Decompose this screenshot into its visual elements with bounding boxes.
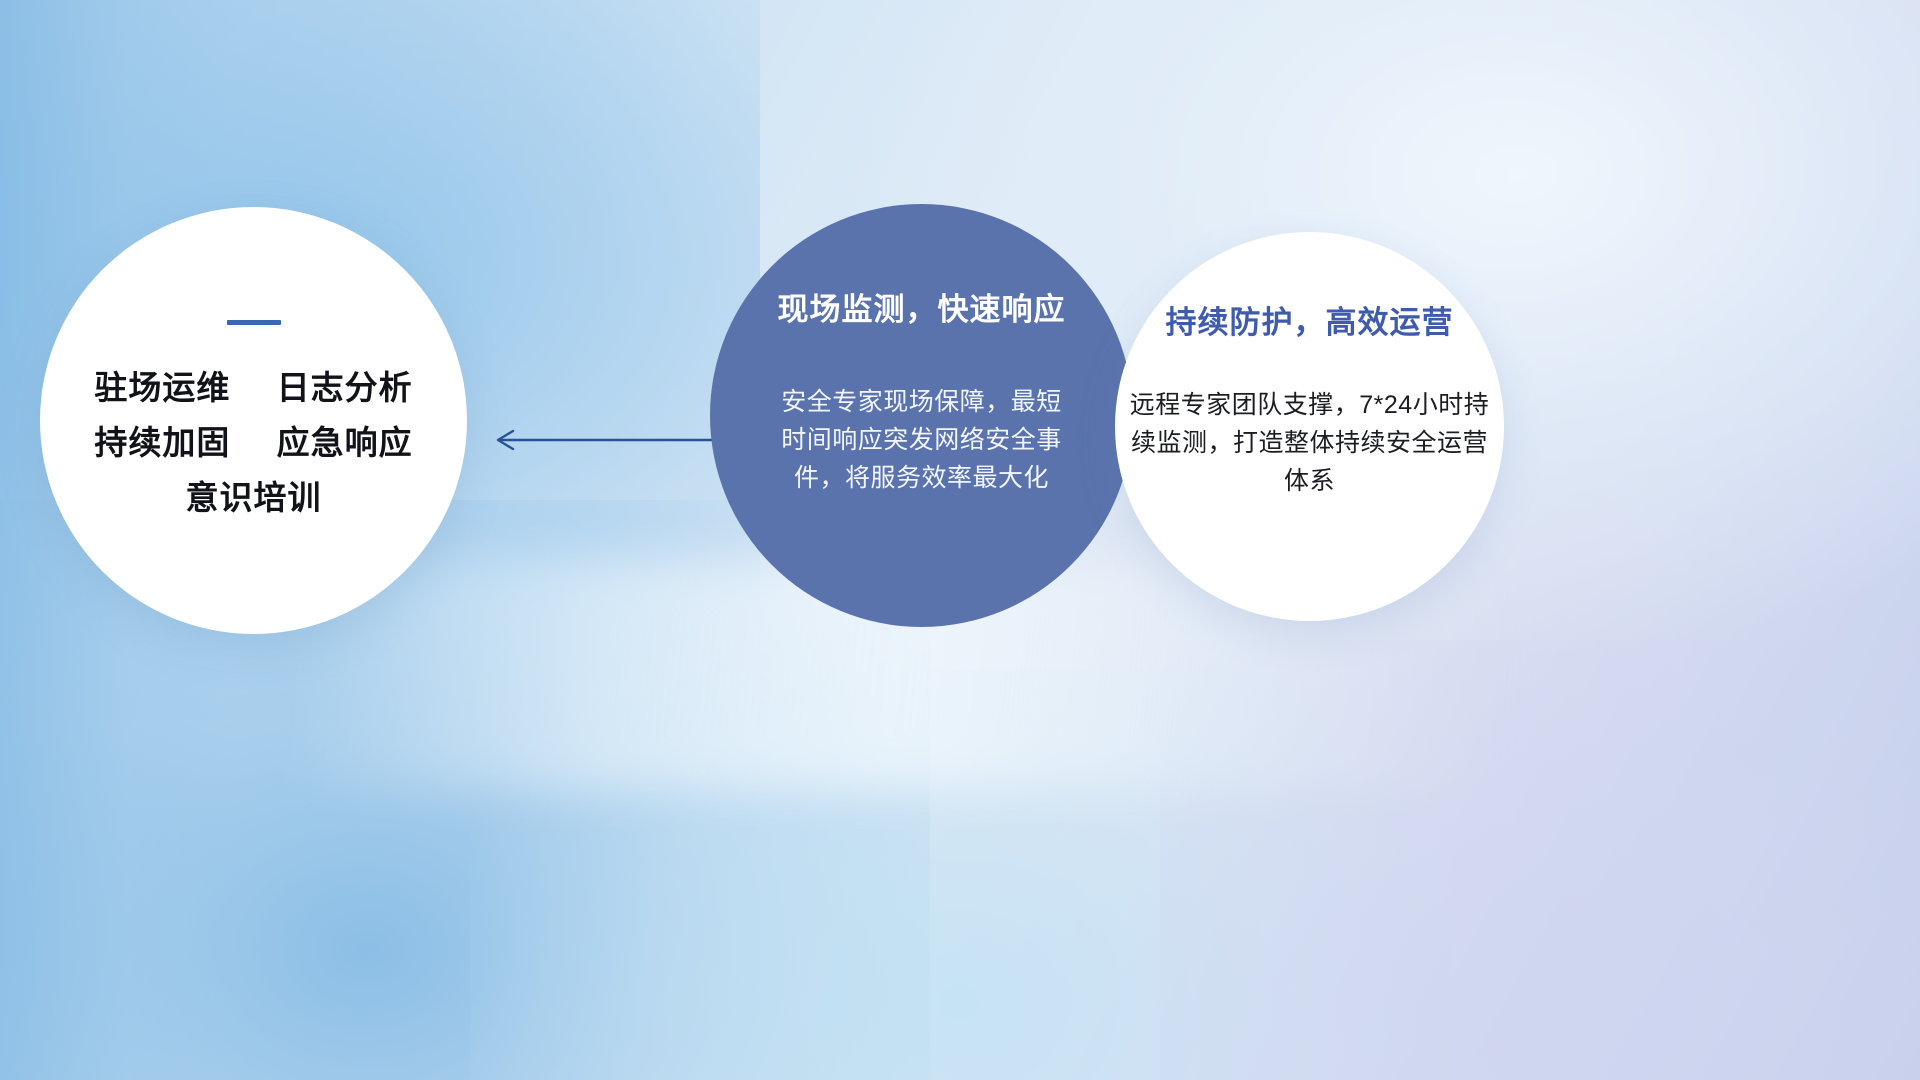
capabilities-circle: 驻场运维 日志分析 持续加固 应急响应 意识培训 <box>40 207 467 634</box>
list-item: 持续加固 应急响应 <box>94 426 412 459</box>
arrow-left-icon <box>488 424 712 456</box>
slide-canvas: 驻场运维 日志分析 持续加固 应急响应 意识培训 现场监测，快速响应 安全专家现… <box>0 0 1920 1080</box>
onsite-title: 现场监测，快速响应 <box>778 294 1066 325</box>
flow-arrow <box>488 424 712 456</box>
list-item: 驻场运维 日志分析 <box>94 371 412 404</box>
capability-label: 应急响应 <box>277 424 413 461</box>
continuous-ops-body: 远程专家团队支撑，7*24小时持续监测，打造整体持续安全运营体系 <box>1130 386 1490 500</box>
list-item: 意识培训 <box>186 481 322 514</box>
divider-dash-icon <box>227 320 281 325</box>
capability-label: 意识培训 <box>186 479 322 516</box>
onsite-body: 安全专家现场保障，最短时间响应突发网络安全事件，将服务效率最大化 <box>777 383 1067 497</box>
onsite-circle: 现场监测，快速响应 安全专家现场保障，最短时间响应突发网络安全事件，将服务效率最… <box>710 204 1133 627</box>
capability-label: 驻场运维 <box>94 369 230 406</box>
continuous-ops-title: 持续防护，高效运营 <box>1166 307 1454 338</box>
capability-label: 日志分析 <box>277 369 413 406</box>
continuous-ops-circle: 持续防护，高效运营 远程专家团队支撑，7*24小时持续监测，打造整体持续安全运营… <box>1115 232 1504 621</box>
capabilities-list: 驻场运维 日志分析 持续加固 应急响应 意识培训 <box>94 371 412 514</box>
capability-label: 持续加固 <box>94 424 230 461</box>
